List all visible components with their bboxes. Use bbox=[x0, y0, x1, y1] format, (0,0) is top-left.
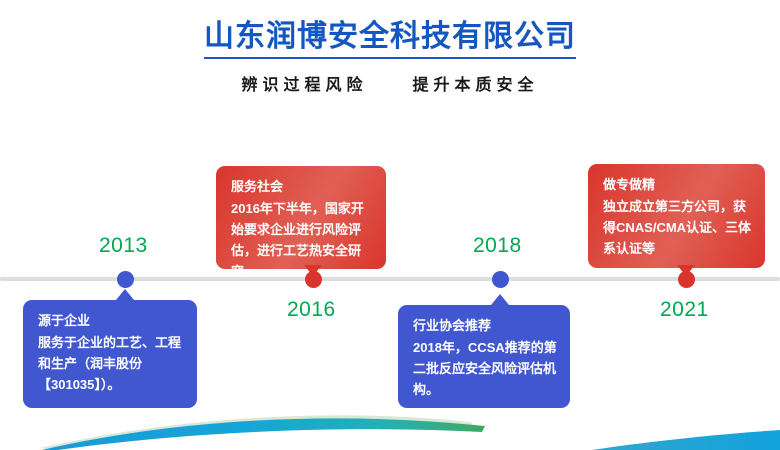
slogan: 辨识过程风险 提升本质安全 bbox=[0, 59, 780, 95]
milestone-card-title-2021: 做专做精 bbox=[603, 174, 752, 195]
card-tail-2021 bbox=[677, 265, 695, 276]
card-tail-2018 bbox=[491, 294, 509, 305]
timeline-node-2018[interactable] bbox=[492, 271, 509, 288]
milestone-card-body-2021: 独立成立第三方公司，获得CNAS/CMA认证、三体系认证等 bbox=[603, 196, 752, 259]
milestone-card-2016[interactable]: 服务社会 2016年下半年，国家开始要求企业进行风险评估，进行工艺热安全研究。 bbox=[216, 166, 386, 269]
header: 山东润博安全科技有限公司 辨识过程风险 提升本质安全 bbox=[0, 0, 780, 95]
wave-right-layer bbox=[592, 430, 780, 450]
milestone-card-body-2016: 2016年下半年，国家开始要求企业进行风险评估，进行工艺热安全研究。 bbox=[231, 198, 373, 282]
page-title: 山东润博安全科技有限公司 bbox=[204, 0, 576, 59]
year-label-2021: 2021 bbox=[660, 298, 709, 322]
milestone-card-2021[interactable]: 做专做精 独立成立第三方公司，获得CNAS/CMA认证、三体系认证等 bbox=[588, 164, 765, 268]
decorative-wave-graphic bbox=[0, 390, 780, 450]
year-label-2013: 2013 bbox=[99, 234, 148, 258]
milestone-card-title-2018: 行业协会推荐 bbox=[413, 315, 557, 336]
card-tail-2013 bbox=[116, 289, 134, 300]
slogan-right: 提升本质安全 bbox=[412, 77, 538, 94]
wave-main-layer bbox=[42, 418, 485, 450]
year-label-2018: 2018 bbox=[473, 234, 522, 258]
milestone-card-title-2016: 服务社会 bbox=[231, 176, 373, 197]
year-label-2016: 2016 bbox=[287, 298, 336, 322]
slogan-left: 辨识过程风险 bbox=[242, 77, 368, 94]
timeline-infographic: 山东润博安全科技有限公司 辨识过程风险 提升本质安全 2013 2016 201… bbox=[0, 0, 780, 450]
milestone-card-body-2013: 服务于企业的工艺、工程和生产（润丰股份【301035】）。 bbox=[38, 332, 184, 395]
milestone-card-title-2013: 源于企业 bbox=[38, 310, 184, 331]
timeline-node-2013[interactable] bbox=[117, 271, 134, 288]
card-tail-2016 bbox=[304, 265, 322, 276]
